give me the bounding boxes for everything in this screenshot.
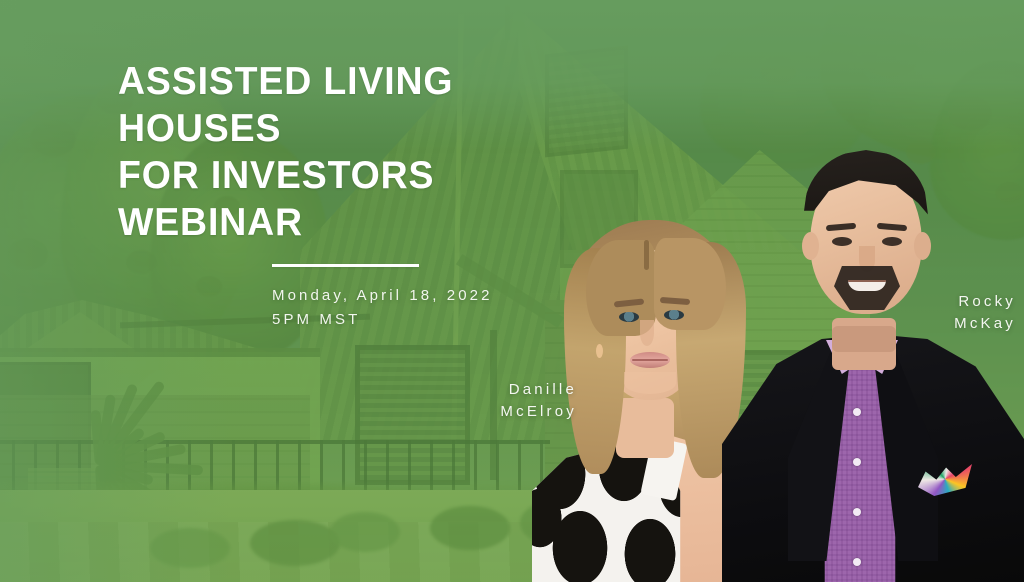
lip-line: [632, 359, 668, 361]
mouth: [848, 280, 886, 291]
shirt-button: [853, 508, 861, 516]
eye-left: [832, 237, 852, 246]
ear-left: [802, 232, 819, 260]
speaker-name-rocky-mckay: Rocky McKay: [920, 291, 1016, 335]
neck: [616, 398, 674, 458]
nose: [640, 320, 654, 346]
shirt-button: [853, 558, 861, 566]
eye-left: [619, 312, 639, 322]
shirt-button: [853, 458, 861, 466]
hair-part: [644, 240, 649, 270]
eye-right: [664, 310, 684, 320]
webinar-promo-banner: ASSISTED LIVING HOUSES FOR INVESTORS WEB…: [0, 0, 1024, 582]
earring: [596, 344, 603, 358]
speaker-name-danille-mcelroy: Danille McElroy: [487, 379, 577, 423]
chin: [624, 372, 676, 394]
shirt-button: [853, 408, 861, 416]
ear-right: [914, 232, 931, 260]
page-title-line-1: ASSISTED LIVING HOUSES: [118, 58, 617, 152]
neck-shadow: [832, 326, 896, 352]
eye-right: [882, 237, 902, 246]
speaker-photo-rocky-mckay: [722, 140, 1024, 582]
title-divider: [272, 264, 419, 267]
